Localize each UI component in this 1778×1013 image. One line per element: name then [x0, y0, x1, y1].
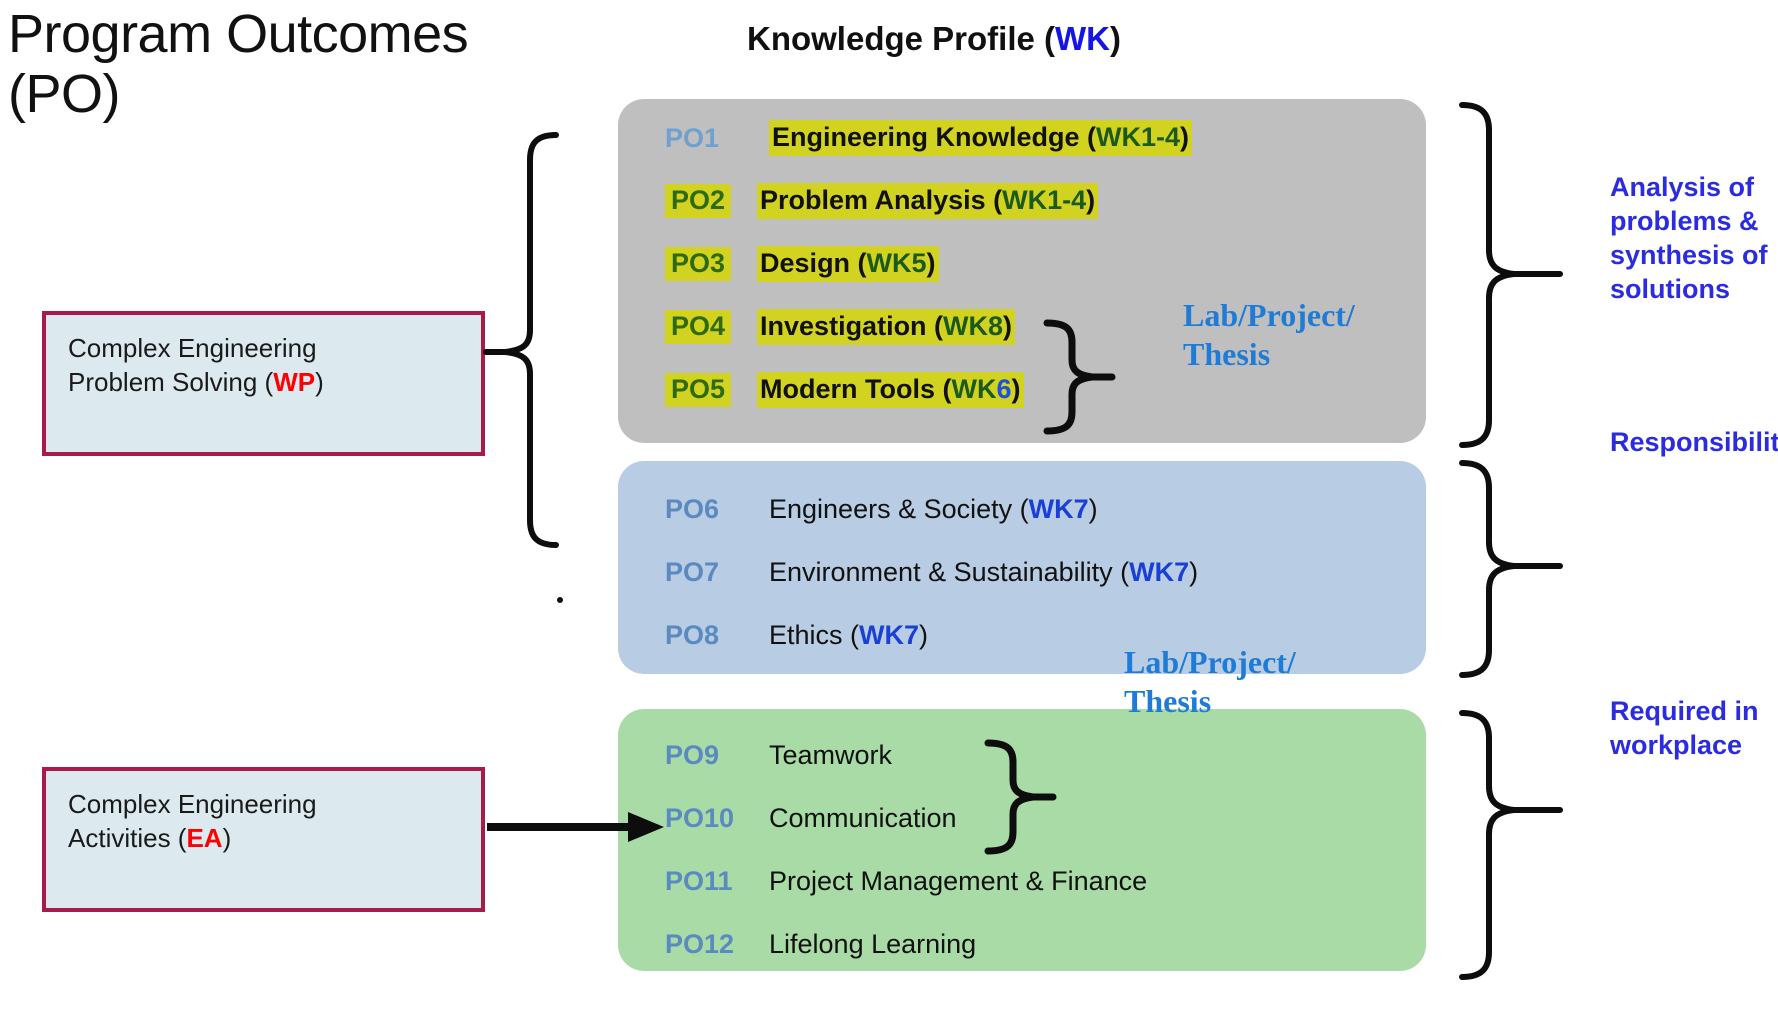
outcome-code-po4: PO4 — [665, 310, 731, 344]
outcome-text-po5: Modern Tools (WK6) — [757, 372, 1024, 408]
right-note-responsibilities: Responsibilities — [1610, 425, 1778, 459]
outcome-wk-po2: WK1-4 — [1002, 185, 1086, 215]
outcome-text-po6-suffix: ) — [1089, 494, 1098, 524]
right-note-analysis: Analysis of problems & synthesis of solu… — [1610, 170, 1778, 306]
outcome-wk-po6: WK7 — [1029, 494, 1089, 524]
outcome-row-po10[interactable]: PO10 Communication — [665, 803, 957, 834]
box-wp-line-1: Complex Engineering — [68, 331, 463, 365]
box-ea-tag: EA — [186, 823, 222, 853]
outcome-text-po8: Ethics (WK7) — [769, 620, 928, 651]
box-wp-line-2-prefix: Problem Solving ( — [68, 367, 273, 397]
outcome-wk-po4: WK8 — [943, 311, 1003, 341]
box-wp-line-2: Problem Solving (WP) — [68, 365, 463, 399]
outcome-text-po7-prefix: Environment & Sustainability ( — [769, 557, 1129, 587]
box-ea-line-2: Activities (EA) — [68, 821, 463, 855]
outcome-text-po1-suffix: ) — [1180, 122, 1189, 152]
outcome-code-po10: PO10 — [665, 803, 769, 834]
curly-brace-left-icon — [505, 135, 560, 600]
outcome-wk-po8: WK7 — [859, 620, 919, 650]
outcome-code-po1: PO1 — [665, 123, 769, 154]
outcome-text-po1: Engineering Knowledge (WK1-4) — [769, 120, 1192, 156]
outcome-text-po4: Investigation (WK8) — [757, 309, 1015, 345]
lab-gray-line-2: Thesis — [1183, 335, 1355, 374]
note-workplace-line-1: Required in — [1610, 694, 1778, 728]
outcome-row-po6[interactable]: PO6 Engineers & Society (WK7) — [665, 494, 1098, 525]
outcome-text-po7-suffix: ) — [1189, 557, 1198, 587]
outcome-text-po2-prefix: Problem Analysis ( — [760, 185, 1002, 215]
outcome-code-po12: PO12 — [665, 929, 769, 960]
box-wp-tag: WP — [273, 367, 315, 397]
kp-heading-suffix: ) — [1110, 20, 1121, 57]
outcome-code-po7: PO7 — [665, 557, 769, 588]
knowledge-profile-heading: Knowledge Profile (WK) — [614, 20, 1254, 58]
outcome-text-po4-suffix: ) — [1003, 311, 1012, 341]
lab-green-line-2: Thesis — [1124, 682, 1296, 721]
curly-brace-right-responsibilities-icon — [1462, 463, 1514, 675]
outcome-row-po4[interactable]: PO4 Investigation (WK8) — [665, 309, 1015, 345]
outcome-text-po9: Teamwork — [769, 740, 892, 771]
outcome-code-po6: PO6 — [665, 494, 769, 525]
concept-box-complex-engineering-activities[interactable]: Complex Engineering Activities (EA) — [42, 767, 485, 912]
note-analysis-line-2: problems & — [1610, 204, 1778, 238]
outcome-text-po8-prefix: Ethics ( — [769, 620, 859, 650]
outcome-text-po3: Design (WK5) — [757, 246, 939, 282]
outcome-wk-po5-number: 6 — [997, 374, 1012, 404]
outcome-code-po8: PO8 — [665, 620, 769, 651]
outcome-wk-po7: WK7 — [1129, 557, 1189, 587]
outcome-row-po1[interactable]: PO1 Engineering Knowledge (WK1-4) — [665, 120, 1192, 156]
outcome-code-po2: PO2 — [665, 184, 731, 218]
outcome-row-po9[interactable]: PO9 Teamwork — [665, 740, 892, 771]
kp-heading-prefix: Knowledge Profile ( — [747, 20, 1055, 57]
outcome-row-po8[interactable]: PO8 Ethics (WK7) — [665, 620, 928, 651]
right-note-required-in-workplace: Required in workplace — [1610, 694, 1778, 762]
outcome-wk-po3: WK5 — [867, 248, 927, 278]
outcome-text-po8-suffix: ) — [919, 620, 928, 650]
outcome-code-po9: PO9 — [665, 740, 769, 771]
note-workplace-line-2: workplace — [1610, 728, 1778, 762]
outcome-text-po2: Problem Analysis (WK1-4) — [757, 183, 1098, 219]
bracket-label-lab-project-thesis-green: Lab/Project/ Thesis — [1124, 643, 1296, 721]
outcome-row-po5[interactable]: PO5 Modern Tools (WK6) — [665, 372, 1024, 408]
outcome-text-po1-prefix: Engineering Knowledge ( — [772, 122, 1096, 152]
curly-brace-right-analysis-icon — [1462, 105, 1514, 445]
kp-heading-tag: WK — [1055, 20, 1110, 57]
box-wp-line-2-suffix: ) — [315, 367, 324, 397]
outcome-text-po3-prefix: Design ( — [760, 248, 867, 278]
outcome-row-po3[interactable]: PO3 Design (WK5) — [665, 246, 939, 282]
page-title-line-2: (PO) — [8, 64, 528, 124]
note-analysis-line-3: synthesis of — [1610, 238, 1778, 272]
lab-gray-line-1: Lab/Project/ — [1183, 296, 1355, 335]
outcome-row-po2[interactable]: PO2 Problem Analysis (WK1-4) — [665, 183, 1098, 219]
concept-box-complex-engineering-problem-solving[interactable]: Complex Engineering Problem Solving (WP) — [42, 311, 485, 456]
outcome-text-po10: Communication — [769, 803, 957, 834]
page-title: Program Outcomes (PO) — [8, 4, 528, 125]
outcome-row-po12[interactable]: PO12 Lifelong Learning — [665, 929, 976, 960]
outcome-row-po11[interactable]: PO11 Project Management & Finance — [665, 866, 1147, 897]
outcome-text-po6-prefix: Engineers & Society ( — [769, 494, 1029, 524]
lab-green-line-1: Lab/Project/ — [1124, 643, 1296, 682]
outcome-wk-po5: WK — [952, 374, 997, 404]
outcome-text-po5-prefix: Modern Tools ( — [760, 374, 951, 404]
note-analysis-line-1: Analysis of — [1610, 170, 1778, 204]
curly-brace-right-workplace-icon — [1462, 713, 1514, 977]
outcome-text-po7: Environment & Sustainability (WK7) — [769, 557, 1198, 588]
outcome-code-po11: PO11 — [665, 866, 769, 897]
outcome-text-po3-suffix: ) — [927, 248, 936, 278]
outcome-wk-po1: WK1-4 — [1096, 122, 1180, 152]
outcome-text-po5-suffix: ) — [1012, 374, 1021, 404]
outcome-code-po5: PO5 — [665, 373, 731, 407]
note-analysis-line-4: solutions — [1610, 272, 1778, 306]
outcome-text-po2-suffix: ) — [1086, 185, 1095, 215]
page-title-line-1: Program Outcomes — [8, 4, 528, 64]
outcome-code-po3: PO3 — [665, 247, 731, 281]
note-responsibilities-text: Responsibilities — [1610, 425, 1778, 459]
outcome-text-po12: Lifelong Learning — [769, 929, 976, 960]
box-ea-line-1: Complex Engineering — [68, 787, 463, 821]
bracket-label-lab-project-thesis-gray: Lab/Project/ Thesis — [1183, 296, 1355, 374]
outcome-text-po11: Project Management & Finance — [769, 866, 1147, 897]
box-ea-line-2-suffix: ) — [223, 823, 232, 853]
box-ea-line-2-prefix: Activities ( — [68, 823, 186, 853]
outcome-row-po7[interactable]: PO7 Environment & Sustainability (WK7) — [665, 557, 1198, 588]
outcome-text-po4-prefix: Investigation ( — [760, 311, 943, 341]
outcome-text-po6: Engineers & Society (WK7) — [769, 494, 1098, 525]
